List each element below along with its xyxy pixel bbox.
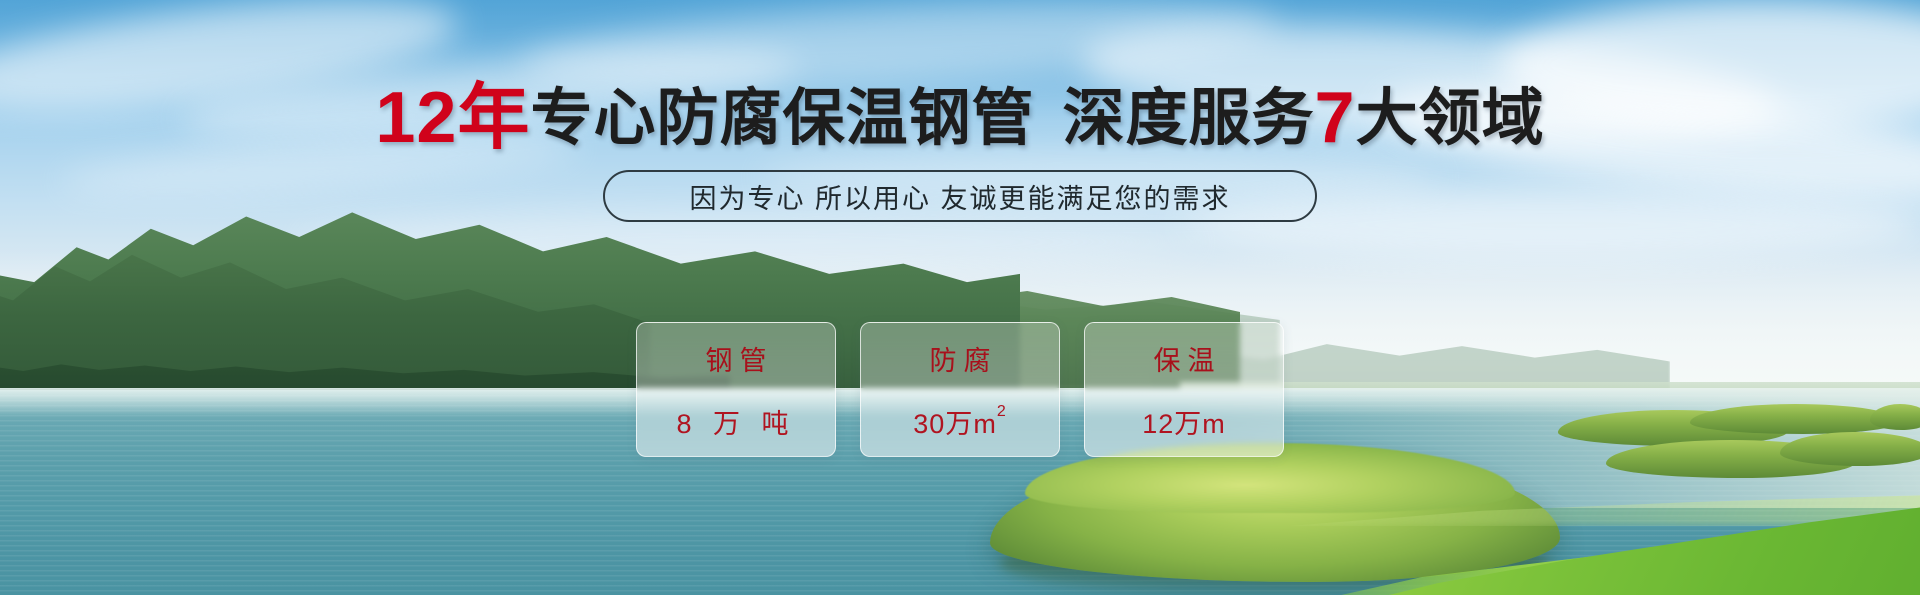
headline-service: 深度服务 [1063,84,1315,153]
stat-card-value: 30万m2 [913,402,1006,441]
stat-card-value-text: 30万m [913,402,997,441]
subtitle-text: 因为专心 所以用心 友诚更能满足您的需求 [689,177,1230,216]
stat-card-value-text: 8 万 吨 [676,402,795,441]
headline-years-number: 12 [375,78,457,158]
stat-card-value: 12万m [1142,402,1226,441]
stat-card-value-superscript: 2 [997,404,1007,420]
stat-card-insulation[interactable]: 保温 12万m [1084,322,1284,457]
headline-fields-number: 7 [1315,78,1356,158]
stat-card-value: 8 万 吨 [676,402,795,441]
grass-patch [1690,404,1900,434]
stat-card-label: 防腐 [923,339,998,378]
headline-main: 专心防腐保温钢管 [531,84,1035,153]
promo-banner: 12年专心防腐保温钢管深度服务7大领域 因为专心 所以用心 友诚更能满足您的需求… [0,0,1920,595]
stat-card-anticorrosion[interactable]: 防腐 30万m2 [860,322,1060,457]
headline-years-unit: 年 [457,78,530,158]
headline-fields-suffix: 大领域 [1356,84,1545,153]
subtitle-pill: 因为专心 所以用心 友诚更能满足您的需求 [603,170,1317,222]
stat-card-group: 钢管 8 万 吨 防腐 30万m2 保温 12万m [636,322,1284,457]
stat-card-label: 保温 [1147,339,1222,378]
stat-card-steel-pipe[interactable]: 钢管 8 万 吨 [636,322,836,457]
stat-card-value-text: 12万m [1142,402,1226,441]
grass-patch [1870,404,1920,430]
stat-card-label: 钢管 [699,339,774,378]
banner-headline: 12年专心防腐保温钢管深度服务7大领域 [0,82,1920,154]
